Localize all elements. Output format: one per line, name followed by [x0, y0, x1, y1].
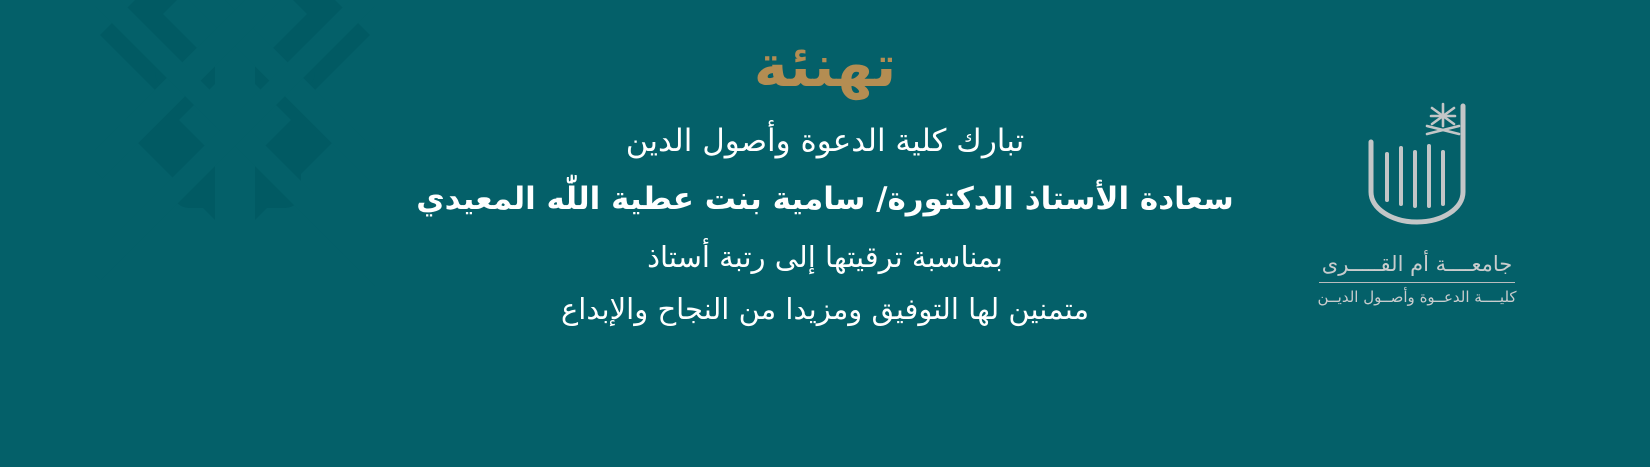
body-line-4-wishes: متمنين لها التوفيق ومزيدا من النجاح والإ… [561, 291, 1089, 329]
umm-al-qura-emblem-icon [1357, 96, 1477, 246]
body-line-3-occasion: بمناسبة ترقيتها إلى رتبة أستاذ [647, 239, 1003, 277]
page-title: تهنئة [754, 36, 897, 97]
congratulation-banner: تهنئة تبارك كلية الدعوة وأصول الدين سعاد… [0, 0, 1650, 467]
body-line-1: تبارك كلية الدعوة وأصول الدين [626, 121, 1024, 161]
logo-university-name: جامعــــة أم القـــــرى [1322, 252, 1512, 276]
body-line-2-honoree: سعادة الأستاذ الدكتورة/ سامية بنت عطية ا… [416, 179, 1234, 219]
logo-divider [1319, 282, 1515, 283]
university-logo: جامعــــة أم القـــــرى كليــــة الدعــو… [1302, 96, 1532, 306]
logo-college-name: كليــــة الدعــوة وأصــول الديــن [1317, 288, 1516, 306]
